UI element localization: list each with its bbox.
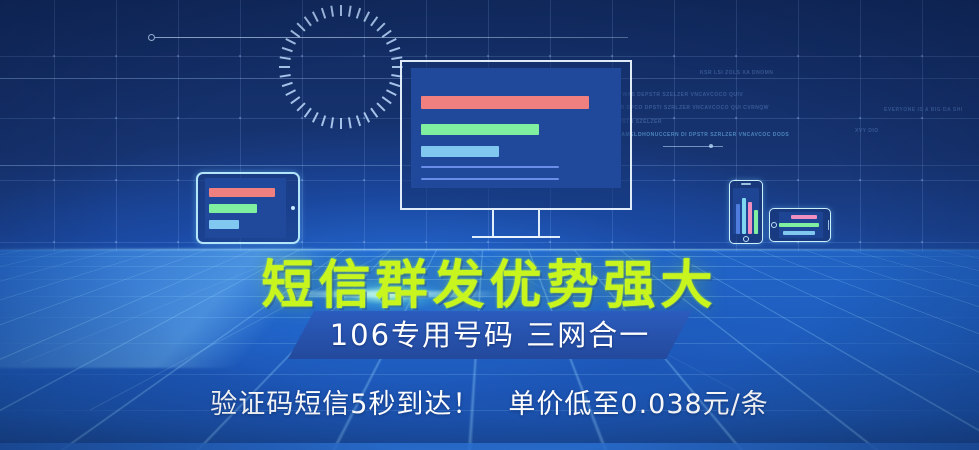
decor-text-6: EVERYONE IS A BIG DA SHI [884,107,963,113]
phone-v-bar-4 [754,210,758,234]
phone-home-button-icon [743,236,749,242]
tablet-screen [205,178,286,238]
monitor-screen [411,68,621,188]
tablet-bar-1 [209,188,275,197]
phone-portrait-screen [733,188,759,234]
bottom-accent-line [0,443,979,450]
tablet-device [196,172,300,244]
connector-stroke [155,37,628,38]
decor-underline [663,146,723,147]
phone-landscape [769,208,831,242]
monitor-stand-neck [492,210,540,238]
phone-speaker-icon [741,183,751,185]
decor-text-7: XVY DIO [855,128,879,134]
monitor-bar-4 [421,166,559,168]
phone-v-bar-1 [736,204,740,234]
radial-ticks-circle [279,5,403,129]
phone-h-bar-1 [791,215,817,219]
monitor-bar-1 [421,96,589,109]
tablet-bar-3 [209,220,239,229]
phone-v-bar-3 [748,202,752,234]
phone-portrait [729,180,763,244]
phone-h-bar-2 [779,223,819,227]
connector-dot [148,34,155,41]
sms-marketing-banner: OR WAS DEPSTR SZELZER VNCAVCOCO QUIV WVS… [0,0,979,450]
sub-banner: 106专用号码 三网合一 [288,311,692,359]
sub-banner-label: 106专用号码 三网合一 [288,311,692,359]
decor-text-4: DHONUCCERN DI DPSTR SZRLZER VNCAVCOC DOD… [638,132,789,138]
circle-connector-line [148,33,628,43]
monitor-stand-foot [472,236,560,238]
phone-landscape-home-icon [771,222,777,228]
tagline: 验证码短信5秒到达！单价低至0.038元/条 [0,382,979,421]
monitor-bar-3 [421,146,499,157]
tagline-right: 单价低至0.038元/条 [508,389,768,420]
phone-landscape-screen [779,212,823,238]
monitor-bar-2 [421,124,539,135]
phone-landscape-speaker-icon [828,220,830,230]
headline: 短信群发优势强大 [0,243,979,318]
tablet-home-button-icon [291,206,295,210]
phone-v-bar-2 [742,198,746,234]
decor-text-5: KSR LSI ZOLS XA DNOMN [700,70,773,76]
desktop-monitor [400,60,632,210]
tagline-left: 验证码短信5秒到达！ [210,389,480,420]
phone-h-bar-3 [783,231,815,235]
monitor-bar-5 [421,178,559,180]
tablet-bar-2 [209,204,257,213]
